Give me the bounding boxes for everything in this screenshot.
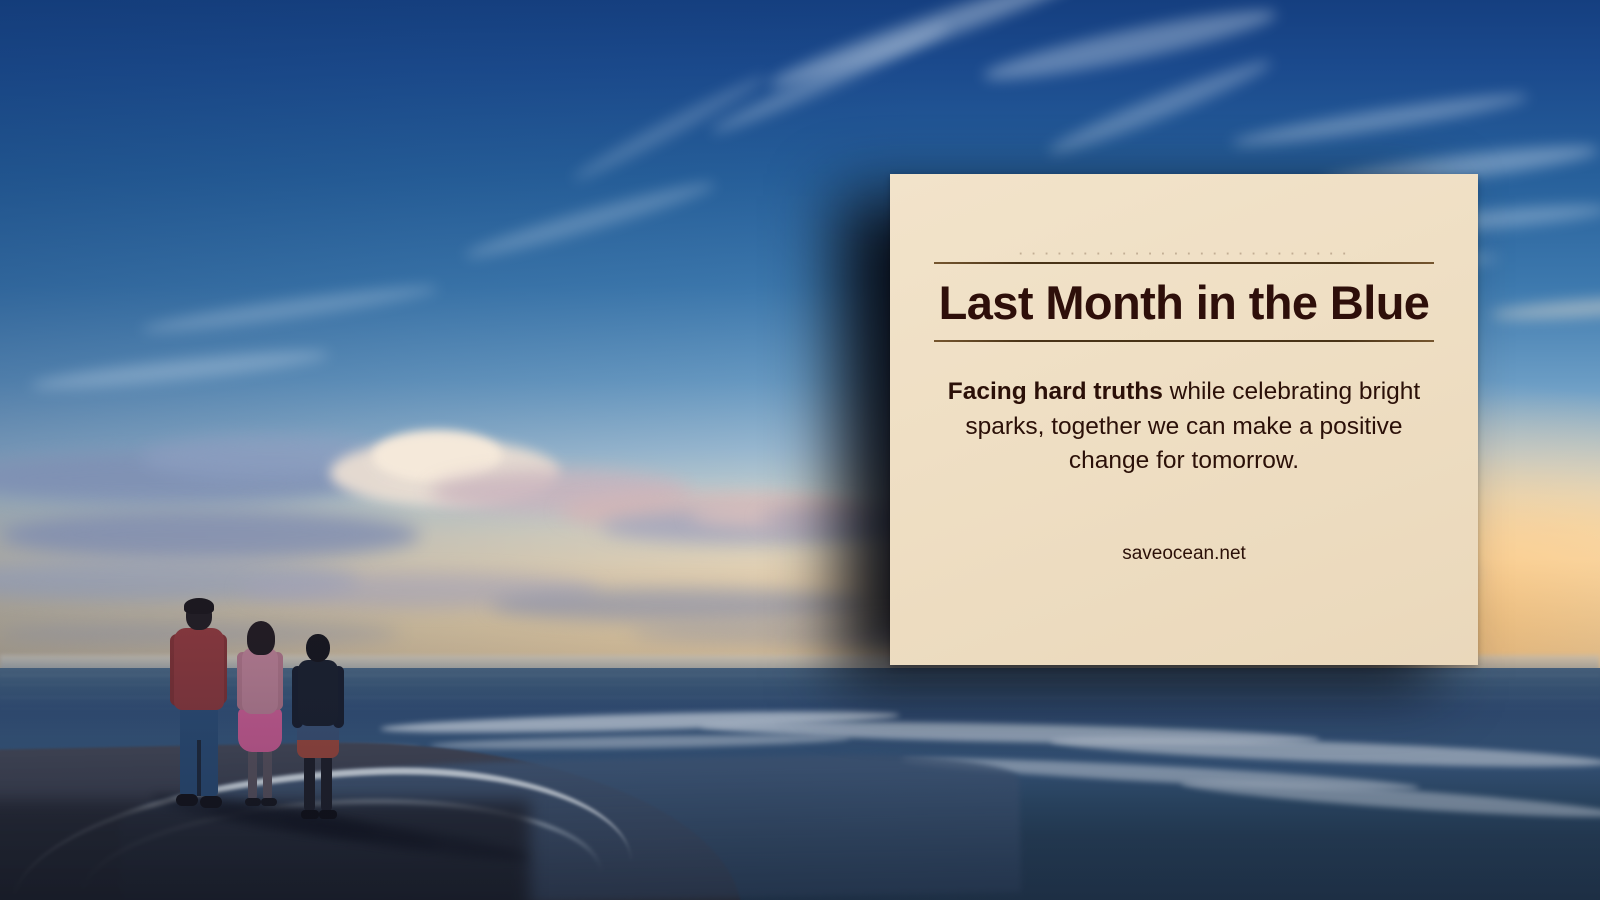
figure-girl-pink-skirt bbox=[236, 624, 284, 810]
divider-top bbox=[934, 262, 1434, 264]
figure-man-red-sweater bbox=[168, 600, 228, 812]
kicker-ghost-text: · · · · · · · · · · · · · · · · · · · · … bbox=[934, 246, 1434, 261]
cumulus-cloud bbox=[490, 588, 870, 622]
card-subtitle-lead: Facing hard truths bbox=[948, 378, 1163, 405]
cumulus-cloud bbox=[0, 510, 420, 560]
page-title: Last Month in the Blue bbox=[934, 264, 1434, 340]
newsletter-hero-banner: · · · · · · · · · · · · · · · · · · · · … bbox=[0, 0, 1600, 900]
card-subtitle: Facing hard truths while celebrating bri… bbox=[934, 342, 1434, 479]
figure-boy-dark-top bbox=[292, 634, 344, 824]
website-url[interactable]: saveocean.net bbox=[934, 479, 1434, 565]
newsletter-card: · · · · · · · · · · · · · · · · · · · · … bbox=[890, 174, 1478, 665]
divider-bottom bbox=[934, 340, 1434, 342]
